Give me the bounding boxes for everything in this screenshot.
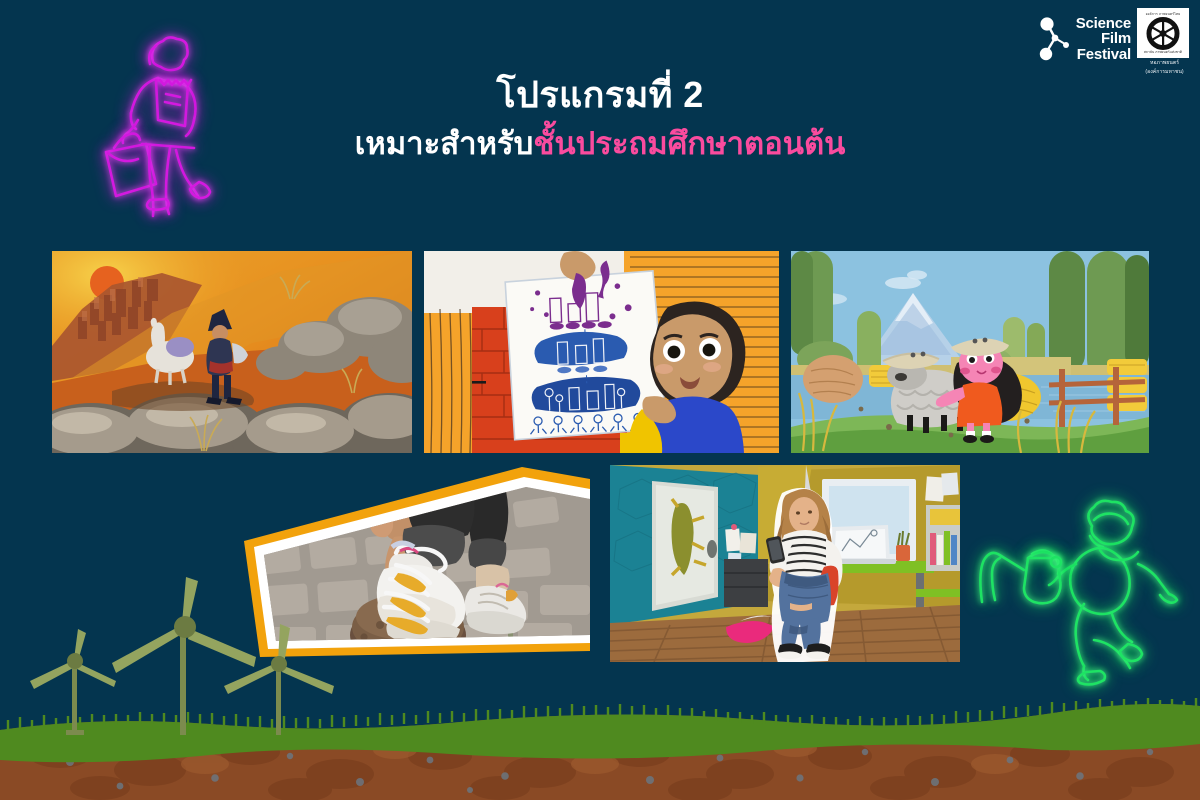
thumbnail-girl-phone[interactable]: [610, 465, 960, 662]
festival-name-festival: Festival: [1076, 47, 1131, 62]
film-reel-badge: องค์การ ภาพยนตร์ไทย สถาบัน ภาพยนตร์แห่งช…: [1137, 8, 1189, 58]
festival-name-film: Film: [1076, 31, 1131, 46]
neon-gardening-person: [980, 492, 1180, 692]
science-film-festival-logo: Science Film Festival: [1037, 8, 1131, 62]
reel-bottom-label: สถาบัน ภาพยนตร์แห่งชาติ: [1144, 50, 1182, 55]
film-archive-caption-1: หอภาพยนตร์: [1137, 60, 1192, 67]
thumbnail-girl-sheep[interactable]: [791, 251, 1149, 453]
thumbnail-boy-drawing[interactable]: [424, 251, 779, 453]
festival-name-science: Science: [1076, 16, 1131, 31]
logo-block: Science Film Festival องค์การ ภาพยนตร์ไท…: [1037, 8, 1192, 75]
film-archive-logo: องค์การ ภาพยนตร์ไทย สถาบัน ภาพยนตร์แห่งช…: [1137, 8, 1192, 75]
wind-turbine-3: [210, 620, 390, 735]
neon-walking-person: [98, 22, 238, 217]
audience-subtitle-highlight: ชั้นประถมศึกษาตอนต้น: [533, 126, 845, 161]
thumbnail-andes-llama[interactable]: [52, 251, 412, 453]
reel-top-label: องค์การ ภาพยนตร์ไทย: [1146, 11, 1181, 16]
film-reel-icon: [1143, 17, 1183, 50]
molecule-mark-icon: [1037, 16, 1071, 62]
audience-subtitle-prefix: เหมาะสำหรับ: [355, 126, 534, 161]
festival-wordmark: Science Film Festival: [1076, 16, 1131, 62]
poster-canvas: Science Film Festival องค์การ ภาพยนตร์ไท…: [0, 0, 1200, 800]
